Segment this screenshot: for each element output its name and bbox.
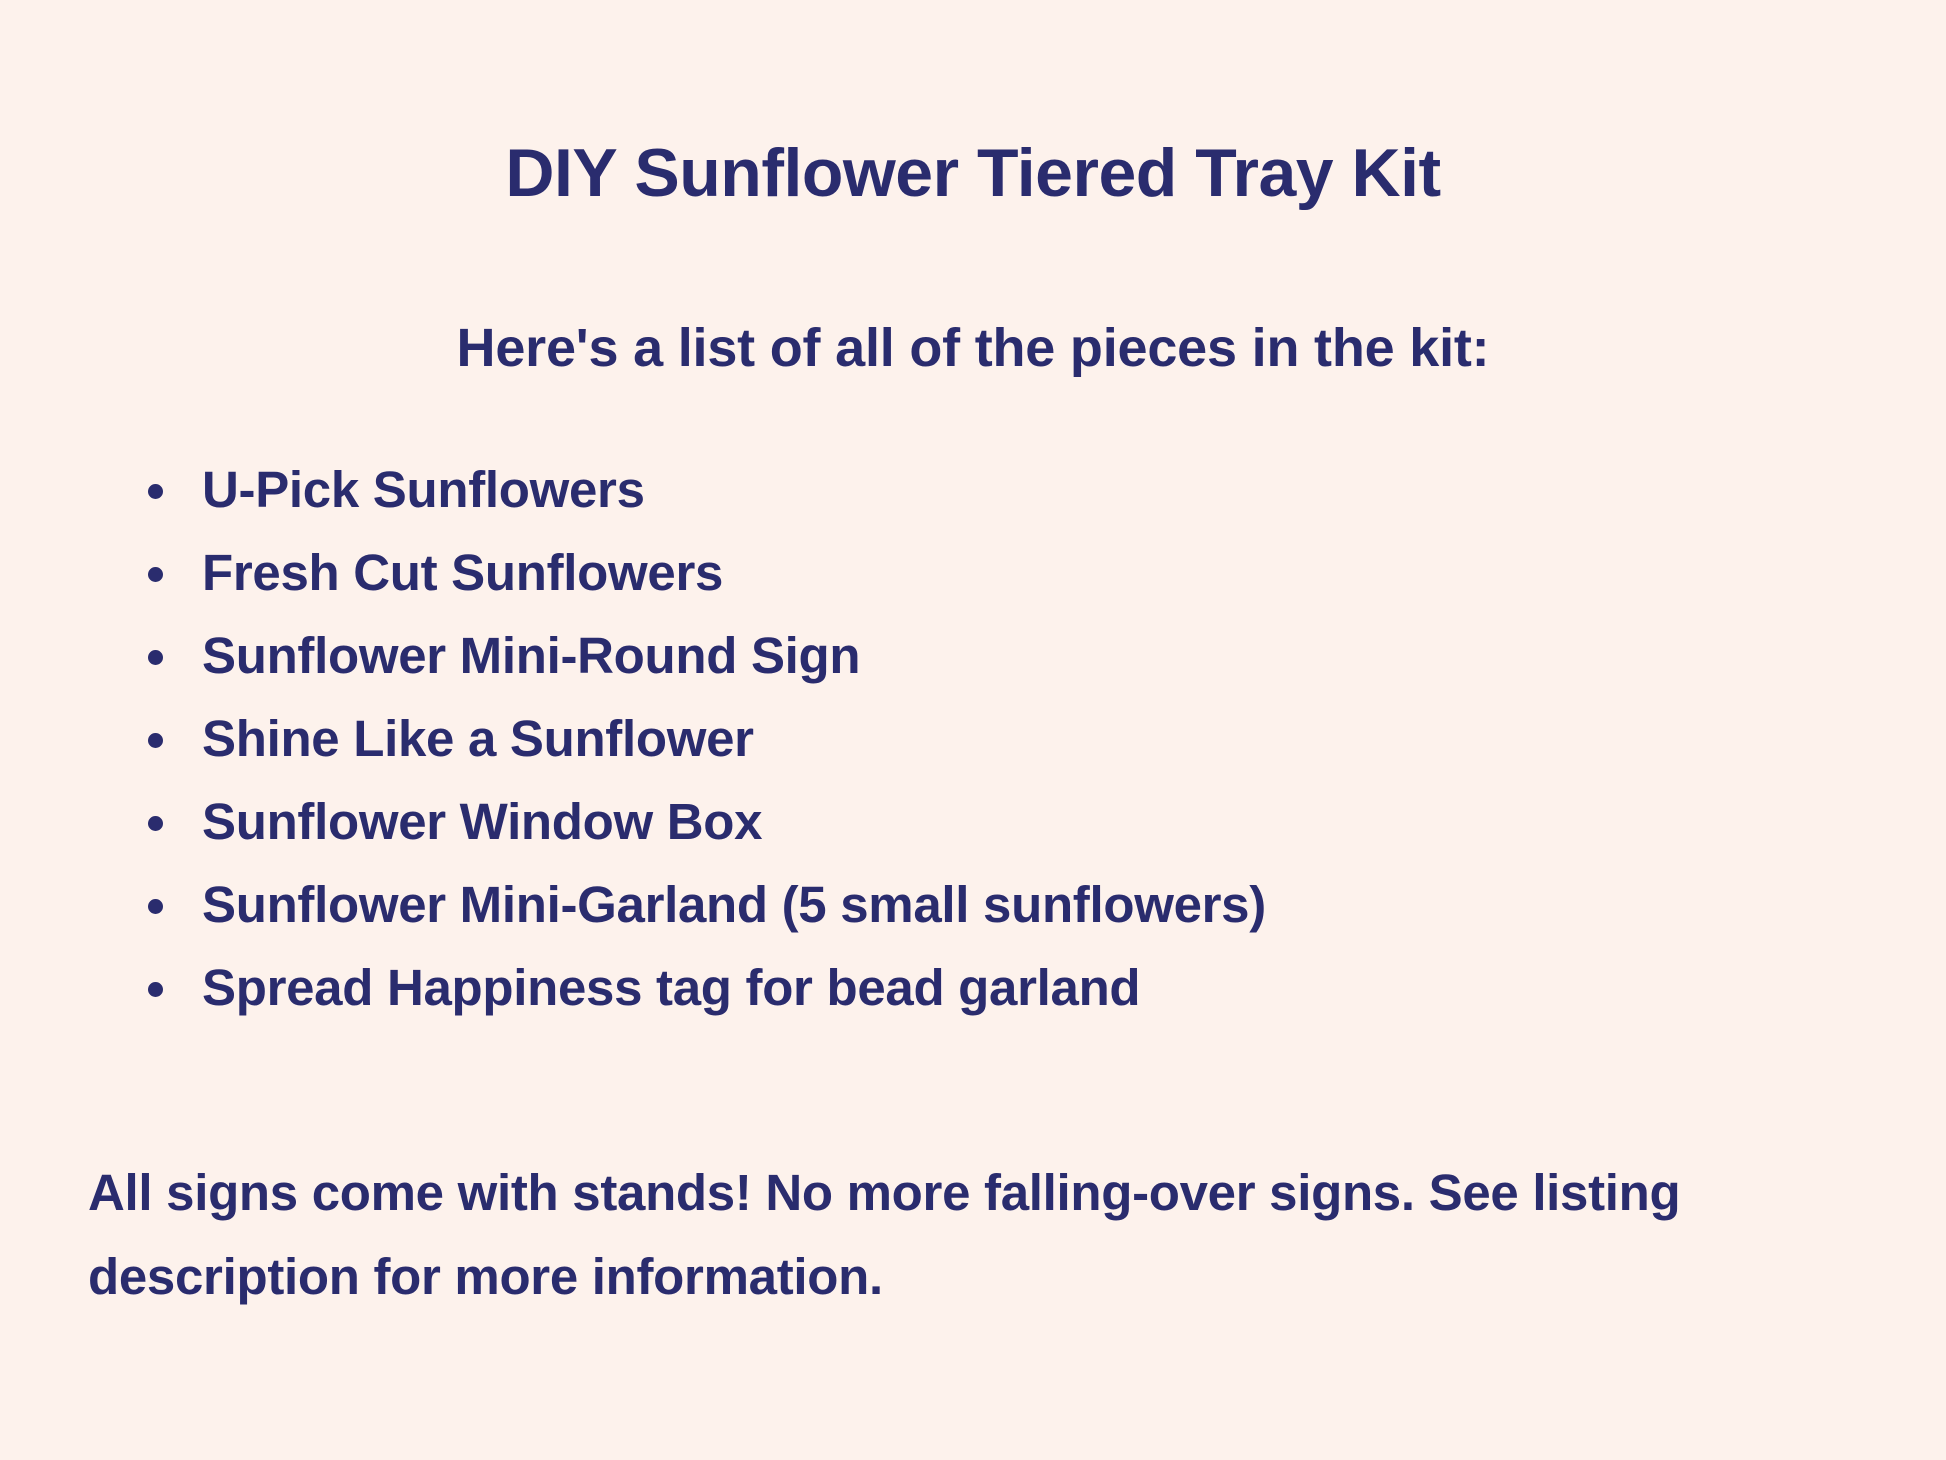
- bullet-icon: [148, 899, 163, 914]
- list-item: Fresh Cut Sunflowers: [148, 531, 1848, 614]
- list-item-label: Shine Like a Sunflower: [202, 710, 754, 767]
- page-title: DIY Sunflower Tiered Tray Kit: [0, 136, 1946, 211]
- list-item: Sunflower Window Box: [148, 780, 1848, 863]
- list-item-label: Spread Happiness tag for bead garland: [202, 959, 1140, 1016]
- list-item-label: U-Pick Sunflowers: [202, 461, 645, 518]
- list-item: Spread Happiness tag for bead garland: [148, 946, 1848, 1029]
- page-subtitle: Here's a list of all of the pieces in th…: [0, 317, 1946, 379]
- kit-contents-slide: DIY Sunflower Tiered Tray Kit Here's a l…: [0, 0, 1946, 1460]
- list-item-label: Sunflower Window Box: [202, 793, 762, 850]
- list-item-label: Sunflower Mini-Round Sign: [202, 627, 860, 684]
- bullet-icon: [148, 816, 163, 831]
- bullet-icon: [148, 650, 163, 665]
- kit-contents-list: U-Pick Sunflowers Fresh Cut Sunflowers S…: [148, 448, 1848, 1029]
- list-item: Shine Like a Sunflower: [148, 697, 1848, 780]
- list-item: U-Pick Sunflowers: [148, 448, 1848, 531]
- footnote-text: All signs come with stands! No more fall…: [88, 1151, 1888, 1319]
- bullet-icon: [148, 484, 163, 499]
- bullet-icon: [148, 733, 163, 748]
- list-item: Sunflower Mini-Garland (5 small sunflowe…: [148, 863, 1848, 946]
- bullet-icon: [148, 567, 163, 582]
- list-item-label: Sunflower Mini-Garland (5 small sunflowe…: [202, 876, 1266, 933]
- bullet-icon: [148, 982, 163, 997]
- list-item: Sunflower Mini-Round Sign: [148, 614, 1848, 697]
- list-item-label: Fresh Cut Sunflowers: [202, 544, 723, 601]
